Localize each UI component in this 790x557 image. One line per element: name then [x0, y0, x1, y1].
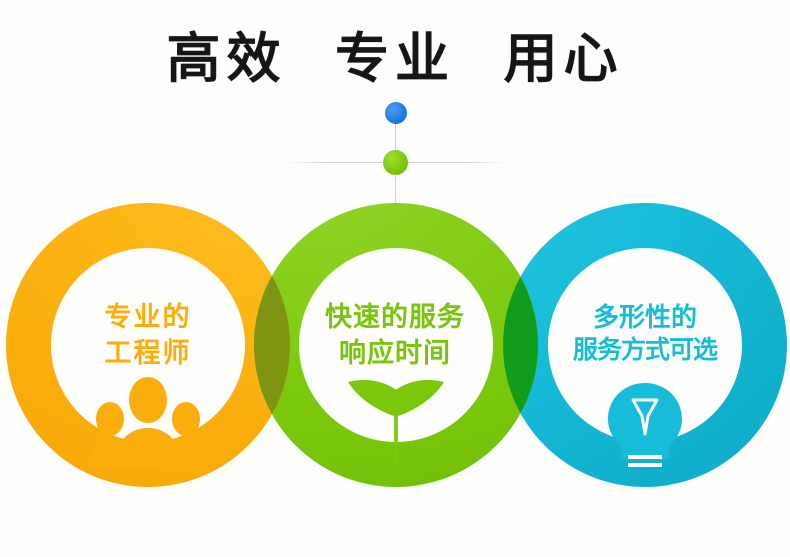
- ring-label-service-modes-line-2: 服务方式可选: [540, 334, 750, 367]
- ring-label-response-time-line-2: 响应时间: [290, 336, 500, 372]
- ring-label-response-time-line-1: 快速的服务: [290, 300, 500, 336]
- venn-rings-graphic: [0, 0, 790, 557]
- ring-label-engineers-line-1: 专业的: [43, 300, 253, 336]
- ring-label-response-time: 快速的服务 响应时间: [290, 300, 500, 371]
- ring-label-engineers-line-2: 工程师: [43, 336, 253, 372]
- poster-canvas: 高效 专业 用心: [0, 0, 790, 557]
- ring-label-service-modes-line-1: 多形性的: [540, 300, 750, 334]
- ring-label-service-modes: 多形性的 服务方式可选: [540, 300, 750, 367]
- ring-label-engineers: 专业的 工程师: [43, 300, 253, 371]
- green-cyan-overlap: [0, 0, 790, 557]
